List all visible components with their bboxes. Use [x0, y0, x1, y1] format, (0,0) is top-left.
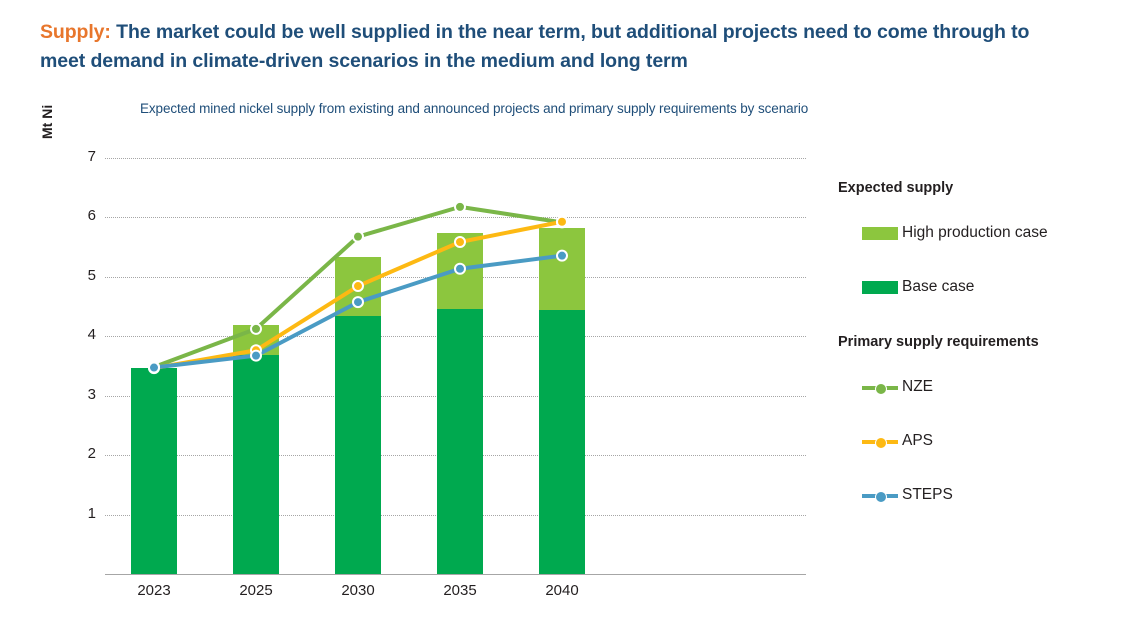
x-tick-label-2023: 2023	[109, 582, 199, 599]
x-tick-label-2030: 2030	[313, 582, 403, 599]
legend-item-high-production-case[interactable]: High production case	[862, 222, 1128, 244]
legend-line-marker-icon	[862, 488, 898, 502]
bar-2035[interactable]	[437, 0, 483, 574]
bar-segment-base-case	[335, 316, 381, 574]
y-tick-label-1: 1	[72, 505, 96, 522]
legend-line-marker-icon	[862, 434, 898, 448]
bar-segment-base-case	[233, 355, 279, 574]
legend-group-expected-supply: High production caseBase case	[838, 222, 1128, 298]
x-tick-label-2040: 2040	[517, 582, 607, 599]
bar-2025[interactable]	[233, 0, 279, 574]
legend-group-title-primary-supply: Primary supply requirements	[838, 334, 1128, 350]
bar-segment-base-case	[539, 310, 585, 574]
legend-swatch-icon	[862, 227, 898, 240]
bar-segment-base-case	[437, 309, 483, 574]
x-axis-line	[105, 574, 806, 575]
chart-page: Supply: The market could be well supplie…	[0, 0, 1133, 617]
bar-2040[interactable]	[539, 0, 585, 574]
bar-segment-high-production-case	[233, 325, 279, 355]
bar-2030[interactable]	[335, 0, 381, 574]
bar-2023[interactable]	[131, 0, 177, 574]
legend-line-marker-icon	[862, 380, 898, 394]
bar-segment-high-production-case	[539, 228, 585, 310]
y-tick-label-3: 3	[72, 386, 96, 403]
legend-item-aps[interactable]: APS	[862, 430, 1128, 452]
y-tick-label-6: 6	[72, 207, 96, 224]
legend-item-label: NZE	[902, 378, 933, 396]
legend-item-label: APS	[902, 432, 933, 450]
bar-segment-high-production-case	[437, 233, 483, 309]
legend-group-title-expected-supply: Expected supply	[838, 180, 1128, 196]
y-tick-label-2: 2	[72, 445, 96, 462]
bar-segment-base-case	[131, 368, 177, 574]
legend-item-label: Base case	[902, 278, 974, 296]
legend-item-nze[interactable]: NZE	[862, 376, 1128, 398]
bar-segment-high-production-case	[335, 257, 381, 317]
legend-swatch-icon	[862, 281, 898, 294]
y-tick-label-7: 7	[72, 148, 96, 165]
y-axis-label: Mt Ni	[39, 105, 55, 139]
legend-item-label: STEPS	[902, 486, 953, 504]
legend-item-steps[interactable]: STEPS	[862, 484, 1128, 506]
legend-item-label: High production case	[902, 224, 1048, 242]
x-tick-label-2035: 2035	[415, 582, 505, 599]
legend-group-primary-supply: NZEAPSSTEPS	[838, 376, 1128, 506]
chart-legend: Expected supply High production caseBase…	[838, 180, 1128, 538]
y-tick-label-5: 5	[72, 267, 96, 284]
y-tick-label-4: 4	[72, 326, 96, 343]
legend-item-base-case[interactable]: Base case	[862, 276, 1128, 298]
x-tick-label-2025: 2025	[211, 582, 301, 599]
